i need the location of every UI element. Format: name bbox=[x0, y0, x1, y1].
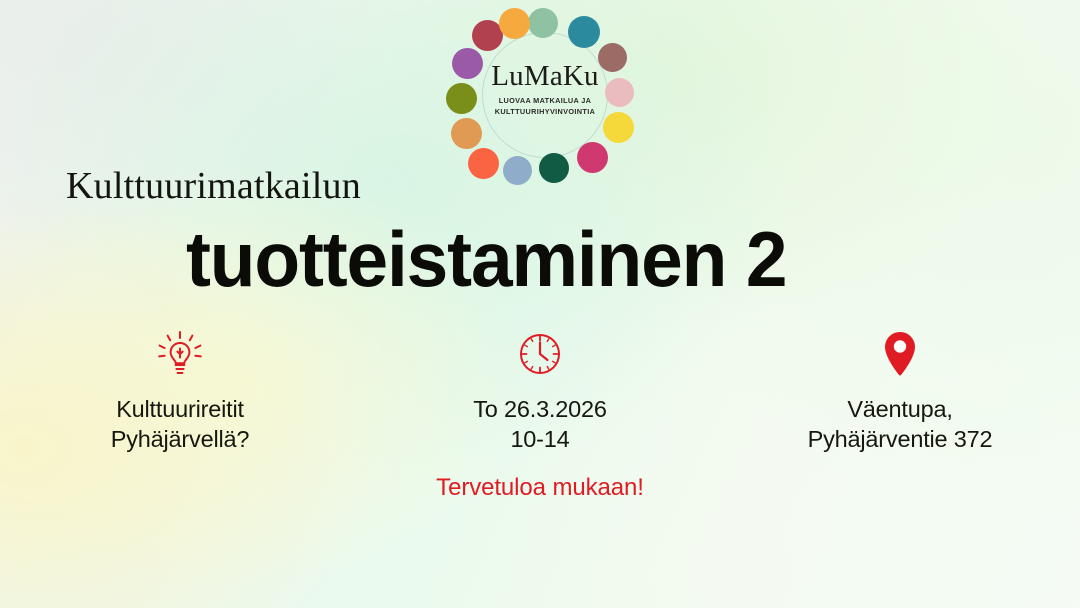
map-pin-icon bbox=[883, 330, 917, 378]
logo-tagline: LUOVAA MATKAILUA JA KULTTUURIHYVINVOINTI… bbox=[455, 96, 635, 117]
logo-dot-ring bbox=[455, 8, 635, 180]
info-column-location: Väentupa, Pyhäjärventie 372 bbox=[720, 330, 1080, 454]
logo-dot-8 bbox=[503, 156, 532, 185]
logo-dot-2 bbox=[568, 16, 600, 48]
page-eyebrow: Kulttuurimatkailun bbox=[66, 164, 361, 208]
info-text-location: Väentupa, Pyhäjärventie 372 bbox=[808, 394, 993, 454]
poster-canvas: LuMaKu LUOVAA MATKAILUA JA KULTTUURIHYVI… bbox=[0, 0, 1080, 608]
info-text-topic: Kulttuurireitit Pyhäjärvellä? bbox=[111, 394, 249, 454]
lightbulb-icon bbox=[158, 330, 202, 378]
page-title: tuotteistaminen 2 bbox=[186, 214, 786, 305]
clock-icon bbox=[517, 330, 563, 378]
logo-dot-6 bbox=[577, 142, 608, 173]
info-columns: Kulttuurireitit Pyhäjärvellä? To 26.3.20… bbox=[0, 330, 1080, 454]
info-text-datetime: To 26.3.2026 10-14 bbox=[473, 394, 607, 454]
logo-dot-7 bbox=[539, 153, 569, 183]
logo-dot-14 bbox=[499, 8, 530, 39]
lumaku-logo: LuMaKu LUOVAA MATKAILUA JA KULTTUURIHYVI… bbox=[455, 8, 635, 180]
info-column-datetime: To 26.3.2026 10-14 bbox=[360, 330, 720, 454]
footer-logo-bar: Euroopan unionin osarahoittama Elinvoima… bbox=[0, 536, 1080, 608]
info-column-topic: Kulttuurireitit Pyhäjärvellä? bbox=[0, 330, 360, 454]
logo-dot-10 bbox=[451, 118, 482, 149]
logo-dot-1 bbox=[528, 8, 558, 38]
welcome-message: Tervetuloa mukaan! bbox=[0, 474, 1080, 502]
logo-wordmark: LuMaKu bbox=[455, 60, 635, 93]
logo-dot-9 bbox=[468, 148, 499, 179]
